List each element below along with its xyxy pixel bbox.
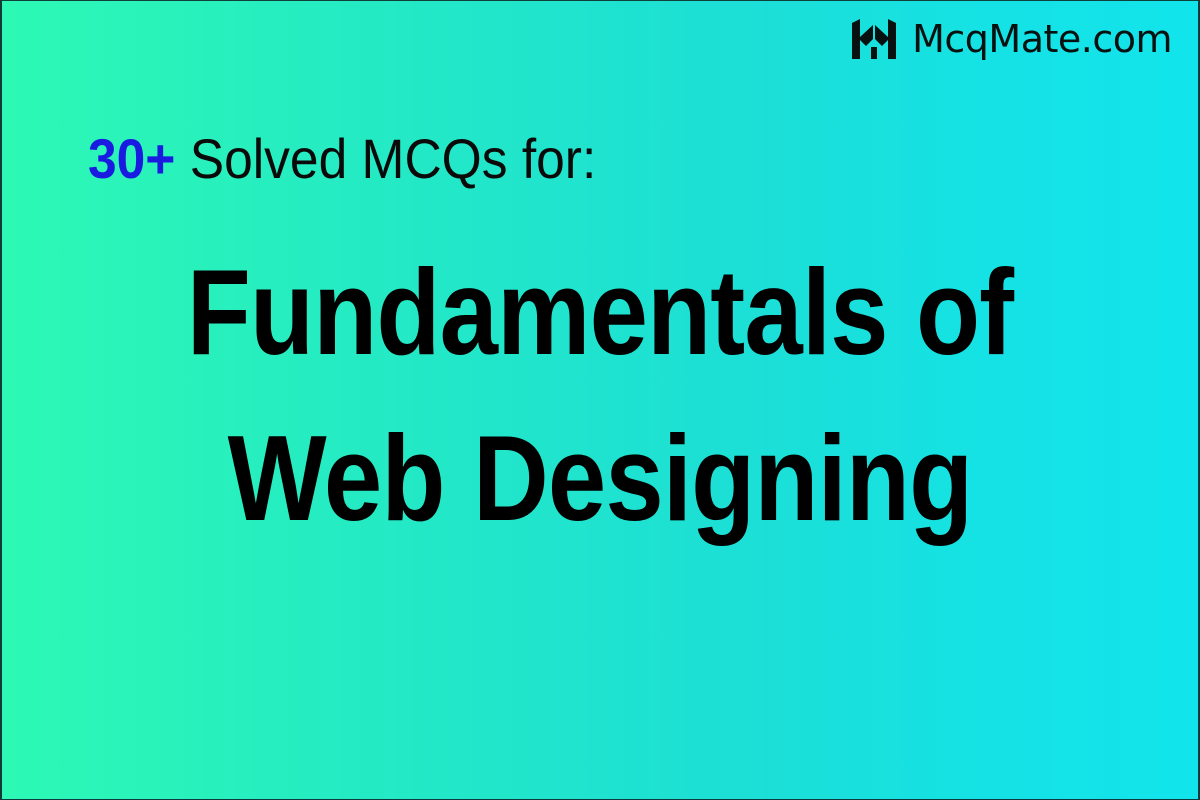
subtitle-text: Solved MCQs for: bbox=[175, 127, 596, 190]
page-title: Fundamentals of Web Designing bbox=[2, 229, 1198, 561]
page-title-line-2: Web Designing bbox=[86, 395, 1115, 561]
mcq-promo-poster: McqMate.com 30+ Solved MCQs for: Fundame… bbox=[0, 0, 1200, 800]
mcq-count-badge: 30+ bbox=[88, 127, 175, 190]
subtitle-line: 30+ Solved MCQs for: bbox=[88, 131, 596, 187]
brand-name: McqMate.com bbox=[912, 20, 1172, 58]
mcqmate-m-logo-icon bbox=[850, 17, 898, 61]
page-title-line-1: Fundamentals of bbox=[86, 229, 1115, 395]
brand-header: McqMate.com bbox=[850, 17, 1172, 61]
